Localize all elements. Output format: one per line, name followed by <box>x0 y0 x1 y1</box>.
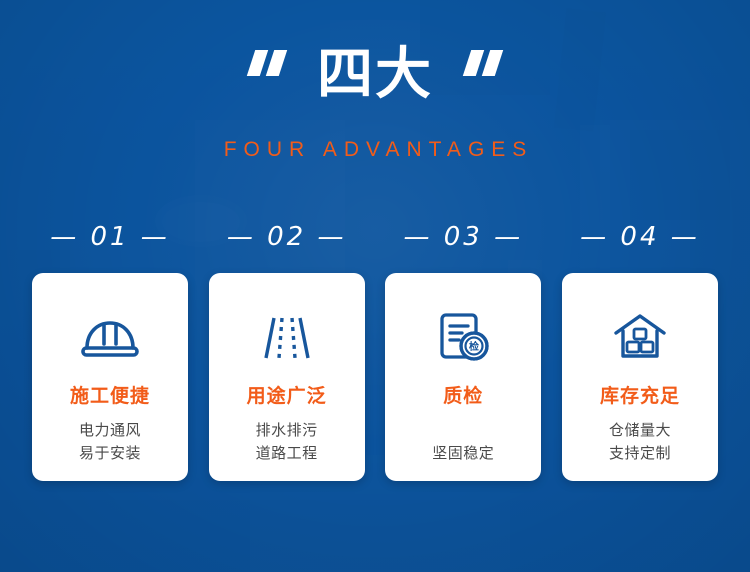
warehouse-icon <box>608 299 672 377</box>
card-desc-line: 电力通风 <box>79 420 141 443</box>
card-number-3: — 03 — <box>404 222 524 252</box>
advantage-card-4[interactable]: 库存充足 仓储量大 支持定制 <box>562 273 718 481</box>
card-desc-line: 支持定制 <box>609 443 671 466</box>
advantages-card-row: — 01 — 施工便捷 电力通风 易于安装 — 02 — <box>32 222 718 481</box>
header: 四大 FOUR ADVANTAGES <box>0 0 750 200</box>
hard-hat-icon <box>75 299 145 377</box>
card-desc-1: 电力通风 易于安装 <box>79 420 141 466</box>
quote-open-icon <box>251 50 283 84</box>
svg-text:检: 检 <box>469 340 479 353</box>
card-desc-line: 坚固稳定 <box>432 443 494 466</box>
card-title-2: 用途广泛 <box>247 381 327 408</box>
card-title-4: 库存充足 <box>600 381 680 408</box>
card-title-3: 质检 <box>443 381 483 408</box>
road-icon <box>257 299 317 377</box>
card-desc-line: 排水排污 <box>256 420 318 443</box>
card-number-2: — 02 — <box>227 222 347 252</box>
card-title-1: 施工便捷 <box>70 381 150 408</box>
inspection-document-icon: 检 <box>432 299 494 377</box>
advantage-column-2: — 02 — 用途广泛 排水排污 道路工程 <box>209 222 365 481</box>
card-number-1: — 01 — <box>50 222 170 252</box>
advantage-column-4: — 04 — 库存充足 仓储量大 支持定制 <box>562 222 718 481</box>
card-desc-line: 道路工程 <box>256 443 318 466</box>
advantage-card-1[interactable]: 施工便捷 电力通风 易于安装 <box>32 273 188 481</box>
card-number-4: — 04 — <box>580 222 700 252</box>
card-desc-line: 易于安装 <box>79 443 141 466</box>
advantage-card-3[interactable]: 检 质检 坚固稳定 <box>385 273 541 481</box>
card-desc-2: 排水排污 道路工程 <box>256 420 318 466</box>
advantage-column-3: — 03 — 检 质检 坚固稳定 <box>385 222 541 481</box>
quote-close-icon <box>467 50 499 84</box>
card-desc-line: 仓储量大 <box>609 420 671 443</box>
card-desc-4: 仓储量大 支持定制 <box>609 420 671 466</box>
title-row: 四大 <box>251 40 499 110</box>
page-subtitle: FOUR ADVANTAGES <box>217 138 534 162</box>
advantage-column-1: — 01 — 施工便捷 电力通风 易于安装 <box>32 222 188 481</box>
advantage-card-2[interactable]: 用途广泛 排水排污 道路工程 <box>209 273 365 481</box>
page-title: 四大 <box>317 47 433 103</box>
card-desc-3: 坚固稳定 <box>432 443 494 466</box>
